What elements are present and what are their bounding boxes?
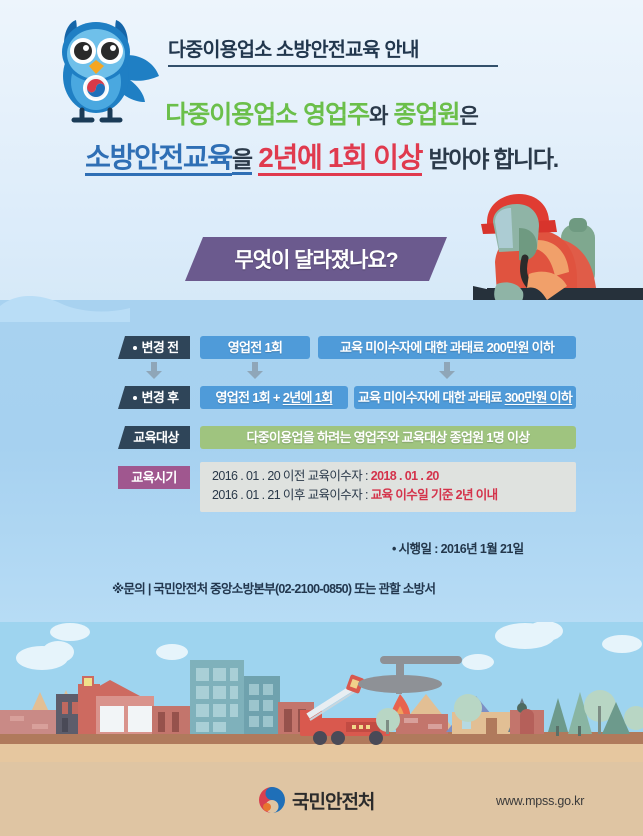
poster-root: 다중이용업소 소방안전교육 안내 다중이용업소 영업주와 종업원은 소방안전교육… — [0, 0, 643, 836]
headline-block: 다중이용업소 영업주와 종업원은 소방안전교육을 2년에 1회 이상 받아야 합… — [0, 100, 643, 175]
down-arrow-icon — [146, 362, 162, 379]
headline-green-a: 다중이용업소 영업주 — [165, 101, 369, 129]
row-label-schedule: 교육시기 — [118, 466, 190, 489]
headline-green-b: 종업원 — [393, 101, 459, 129]
down-arrow-icon — [439, 362, 455, 379]
schedule-line-2: 2016 . 01 . 21 이후 교육이수자 : 교육 이수일 기준 2년 이… — [212, 486, 566, 505]
panel-wave-decoration — [0, 296, 130, 322]
agency-url[interactable]: www.mpss.go.kr — [496, 794, 584, 808]
bullet-dot-icon — [133, 396, 137, 400]
row-label-schedule-text: 교육시기 — [131, 470, 176, 485]
bullet-dot-icon — [133, 346, 137, 350]
row-after-penalty-underline: 300만원 이하 — [505, 390, 573, 405]
row-after-frequency-underline: 2년에 1회 — [283, 390, 333, 405]
row-after-frequency-plain: 영업전 1회 + — [216, 390, 283, 405]
row-label-after: 변경 후 — [118, 386, 190, 409]
row-after-penalty-plain: 교육 미이수자에 대한 과태료 — [358, 390, 505, 405]
headline-blue: 소방안전교육 — [85, 142, 232, 176]
down-arrow-icon — [247, 362, 263, 379]
row-label-target-text: 교육대상 — [133, 430, 178, 445]
headline-line-1: 다중이용업소 영업주와 종업원은 — [0, 100, 643, 131]
inquiry-line: ※문의 | 국민안전처 중앙소방본부(02-2100-0850) 또는 관할 소… — [112, 578, 435, 597]
schedule-detail-box: 2016 . 01 . 20 이전 교육이수자 : 2018 . 01 . 20… — [200, 462, 576, 512]
schedule-line-1-date: 2018 . 01 . 20 — [371, 469, 439, 483]
row-after-frequency: 영업전 1회 + 2년에 1회 — [200, 386, 348, 409]
row-before-penalty: 교육 미이수자에 대한 과태료 200만원 이하 — [318, 336, 576, 359]
headline-dark-d: 받아야 합니다. — [429, 146, 558, 172]
footer-bar: 국민안전처 www.mpss.go.kr — [0, 762, 643, 836]
row-before-frequency: 영업전 1회 — [200, 336, 310, 359]
headline-red: 2년에 1회 이상 — [258, 142, 422, 176]
row-target-value: 다중이용업을 하려는 영업주와 교육대상 종업원 1명 이상 — [200, 426, 576, 449]
row-label-target: 교육대상 — [118, 426, 190, 449]
row-after-penalty: 교육 미이수자에 대한 과태료 300만원 이하 — [354, 386, 576, 409]
page-title: 다중이용업소 소방안전교육 안내 — [168, 33, 498, 67]
row-label-after-text: 변경 후 — [141, 390, 178, 405]
headline-dark-c: 을 — [232, 146, 252, 175]
section-banner: 무엇이 달라졌나요? — [185, 237, 447, 281]
city-fire-scene-icon — [0, 622, 643, 762]
headline-dark-a: 와 — [369, 105, 387, 128]
agency-name: 국민안전처 — [292, 787, 374, 814]
headline-line-2: 소방안전교육을 2년에 1회 이상 받아야 합니다. — [0, 141, 643, 175]
effective-date: • 시행일 : 2016년 1월 21일 — [392, 538, 524, 557]
row-label-before-text: 변경 전 — [141, 340, 178, 355]
schedule-line-2-value: 교육 이수일 기준 2년 이내 — [371, 488, 498, 502]
taegeuk-logo-icon — [258, 786, 286, 814]
schedule-line-1-prefix: 2016 . 01 . 20 이전 교육이수자 : — [212, 469, 371, 483]
schedule-line-2-prefix: 2016 . 01 . 21 이후 교육이수자 : — [212, 488, 371, 502]
banner-text: 무엇이 달라졌나요? — [234, 244, 397, 274]
schedule-line-1: 2016 . 01 . 20 이전 교육이수자 : 2018 . 01 . 20 — [212, 467, 566, 486]
headline-dark-b: 은 — [459, 105, 477, 128]
row-label-before: 변경 전 — [118, 336, 190, 359]
